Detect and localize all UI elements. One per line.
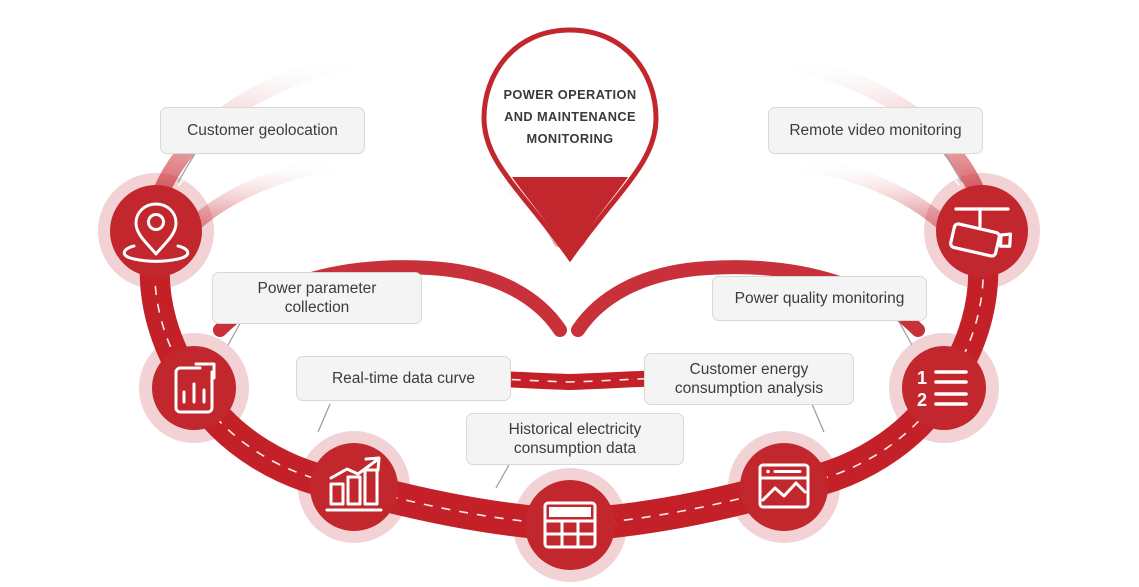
center-pin-title: POWER OPERATION AND MAINTENANCE MONITORI… [485, 84, 655, 150]
center-pin-title-line-1: POWER OPERATION [485, 84, 655, 106]
node-remote-video-monitoring[interactable] [936, 185, 1028, 277]
diagram-canvas: POWER OPERATION AND MAINTENANCE MONITORI… [0, 0, 1139, 587]
node-historical-data[interactable] [525, 480, 615, 570]
list-number-one: 1 [917, 368, 927, 388]
node-circle-remote-video-monitoring[interactable] [936, 185, 1028, 277]
label-text-power-quality-monitoring: Power quality monitoring [735, 289, 905, 309]
label-text-customer-energy-analysis-line-1: Customer energy [690, 360, 809, 379]
label-text-real-time-data-curve: Real-time data curve [332, 369, 475, 389]
list-number-two: 2 [917, 390, 927, 410]
label-power-quality-monitoring[interactable]: Power quality monitoring [712, 276, 927, 321]
node-circle-customer-energy-analysis[interactable] [740, 443, 828, 531]
label-real-time-data-curve[interactable]: Real-time data curve [296, 356, 511, 401]
center-pin-title-line-2: AND MAINTENANCE [485, 106, 655, 128]
label-remote-video-monitoring[interactable]: Remote video monitoring [768, 107, 983, 154]
label-historical-data[interactable]: Historical electricity consumption data [466, 413, 684, 465]
center-pin-title-line-3: MONITORING [485, 128, 655, 150]
node-real-time-data-curve[interactable] [310, 443, 398, 531]
node-power-quality-monitoring[interactable]: 1 2 [902, 346, 986, 430]
label-text-customer-geolocation: Customer geolocation [187, 121, 338, 141]
label-text-remote-video-monitoring: Remote video monitoring [789, 121, 961, 141]
node-customer-geolocation[interactable] [110, 185, 202, 277]
label-text-historical-data-line-2: consumption data [514, 439, 636, 458]
label-text-historical-data-line-1: Historical electricity [509, 420, 642, 439]
label-text-power-parameter-collection-line-1: Power parameter [258, 279, 377, 298]
label-customer-energy-analysis[interactable]: Customer energy consumption analysis [644, 353, 854, 405]
label-text-power-parameter-collection-line-2: collection [285, 298, 350, 317]
label-customer-geolocation[interactable]: Customer geolocation [160, 107, 365, 154]
label-power-parameter-collection[interactable]: Power parameter collection [212, 272, 422, 324]
node-circle-power-quality-monitoring[interactable] [902, 346, 986, 430]
node-circle-historical-data[interactable] [525, 480, 615, 570]
node-power-parameter-collection[interactable] [152, 346, 236, 430]
node-circle-real-time-data-curve[interactable] [310, 443, 398, 531]
node-customer-energy-analysis[interactable] [740, 443, 828, 531]
label-text-customer-energy-analysis-line-2: consumption analysis [675, 379, 823, 398]
